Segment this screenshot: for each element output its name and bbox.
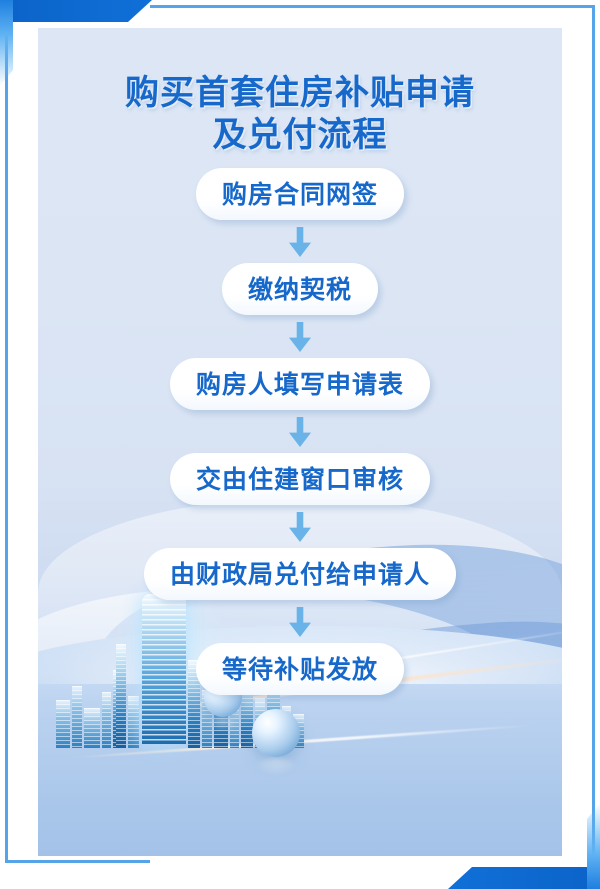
frame-rule-bottom: [5, 860, 150, 863]
poster-panel: 购买首套住房补贴申请 及兑付流程 购房合同网签 缴纳契税 购房人填写申请表 交由…: [38, 28, 562, 856]
flow-step-6[interactable]: 等待补贴发放: [196, 643, 404, 695]
arrow-down-icon: [289, 607, 311, 637]
edge-strip-right: [587, 803, 600, 889]
infographic-poster: 购买首套住房补贴申请 及兑付流程 购房合同网签 缴纳契税 购房人填写申请表 交由…: [0, 0, 600, 889]
page-title-line-2: 及兑付流程: [38, 114, 562, 156]
corner-banner-bottom-right: [448, 867, 600, 889]
process-flow: 购房合同网签 缴纳契税 购房人填写申请表 交由住建窗口审核 由财政局兑付给申请人…: [38, 168, 562, 695]
page-title: 购买首套住房补贴申请 及兑付流程: [38, 72, 562, 156]
sphere-reflection: [254, 758, 298, 776]
frame-rule-right: [592, 5, 595, 863]
flow-step-2[interactable]: 缴纳契税: [222, 263, 378, 315]
edge-strip-left: [0, 0, 13, 86]
sphere-reflection: [206, 718, 240, 732]
flow-step-3[interactable]: 购房人填写申请表: [170, 358, 430, 410]
arrow-down-icon: [289, 227, 311, 257]
arrow-down-icon: [289, 417, 311, 447]
glossy-sphere-icon: [252, 709, 300, 757]
flow-step-4[interactable]: 交由住建窗口审核: [170, 453, 430, 505]
corner-banner-top-left: [0, 0, 152, 22]
page-title-line-1: 购买首套住房补贴申请: [38, 72, 562, 114]
flow-step-1[interactable]: 购房合同网签: [196, 168, 404, 220]
arrow-down-icon: [289, 512, 311, 542]
arrow-down-icon: [289, 322, 311, 352]
frame-rule-left: [5, 26, 8, 863]
flow-step-5[interactable]: 由财政局兑付给申请人: [144, 548, 456, 600]
frame-rule-top: [150, 5, 595, 8]
